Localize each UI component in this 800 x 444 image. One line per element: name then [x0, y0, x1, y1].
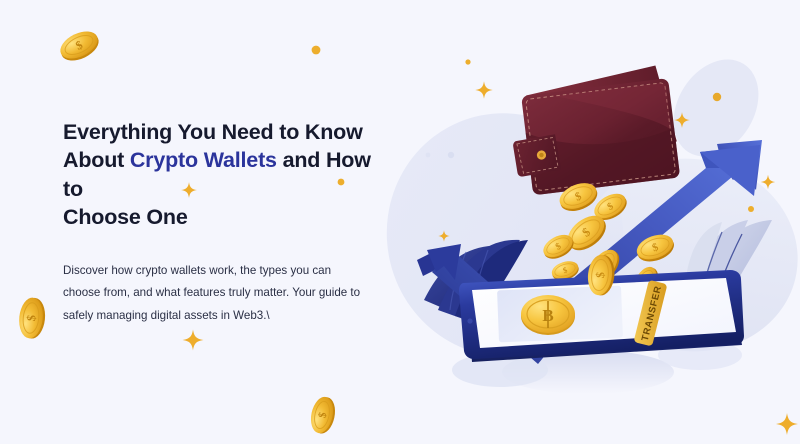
hero-text-column: Everything You Need to Know About Crypto…: [63, 118, 383, 327]
page-title: Everything You Need to Know About Crypto…: [63, 118, 383, 232]
headline-line-2-prefix: About: [63, 148, 130, 172]
hero-section: $: [0, 0, 800, 444]
headline-line-1: Everything You Need to Know: [63, 120, 363, 144]
bitcoin-coin: B: [521, 295, 575, 335]
headline-accent: Crypto Wallets: [130, 148, 277, 172]
hero-subcopy: Discover how crypto wallets work, the ty…: [63, 232, 363, 328]
leather-wallet: [506, 64, 682, 197]
headline-line-3: Choose One: [63, 205, 188, 229]
